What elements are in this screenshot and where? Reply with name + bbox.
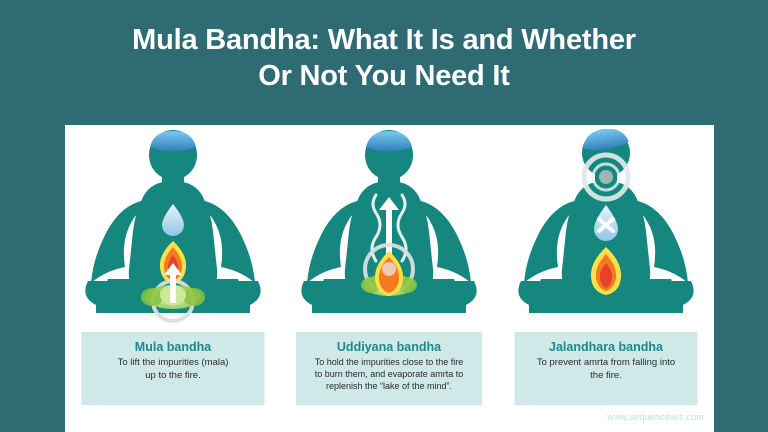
caption-box-mula: Mula bandha To lift the impurities (mala… xyxy=(82,332,265,405)
figure-uddiyana-bandha xyxy=(294,129,484,325)
caption-box-uddiyana: Uddiyana bandha To hold the impurities c… xyxy=(296,332,482,405)
infographic-page: Mula Bandha: What It Is and Whether Or N… xyxy=(0,0,768,432)
caption-line: replenish the “lake of the mind”. xyxy=(302,381,476,393)
figure-mula-bandha xyxy=(78,129,268,325)
caption-line: To hold the impurities close to the fire xyxy=(302,357,476,369)
head-cap-icon xyxy=(366,131,412,152)
panel-jalandhara-bandha: Jalandhara bandha To prevent amrta from … xyxy=(498,125,714,432)
page-title-line-2: Or Not You Need It xyxy=(0,58,768,94)
page-title-line-1: Mula Bandha: What It Is and Whether xyxy=(0,22,768,58)
caption-line: To lift the impurities (mala) xyxy=(88,357,259,370)
caption-title-mula: Mula bandha xyxy=(88,339,259,355)
watermark: www.sequencewiz.com xyxy=(607,412,704,422)
caption-line: the fire. xyxy=(521,370,692,383)
head-cap-icon xyxy=(150,131,196,152)
caption-line: to burn them, and evaporate amrta to xyxy=(302,369,476,381)
caption-title-jalandhara: Jalandhara bandha xyxy=(521,339,692,355)
caption-line: To prevent amrta from falling into xyxy=(521,357,692,370)
caption-title-uddiyana: Uddiyana bandha xyxy=(302,339,476,355)
caption-line: up to the fire. xyxy=(88,370,259,383)
infographic-panel: Mula bandha To lift the impurities (mala… xyxy=(65,125,714,432)
panel-uddiyana-bandha: Uddiyana bandha To hold the impurities c… xyxy=(281,125,497,432)
page-title: Mula Bandha: What It Is and Whether Or N… xyxy=(0,22,768,94)
figure-jalandhara-bandha xyxy=(511,129,701,325)
panel-mula-bandha: Mula bandha To lift the impurities (mala… xyxy=(65,125,281,432)
caption-box-jalandhara: Jalandhara bandha To prevent amrta from … xyxy=(515,332,698,405)
